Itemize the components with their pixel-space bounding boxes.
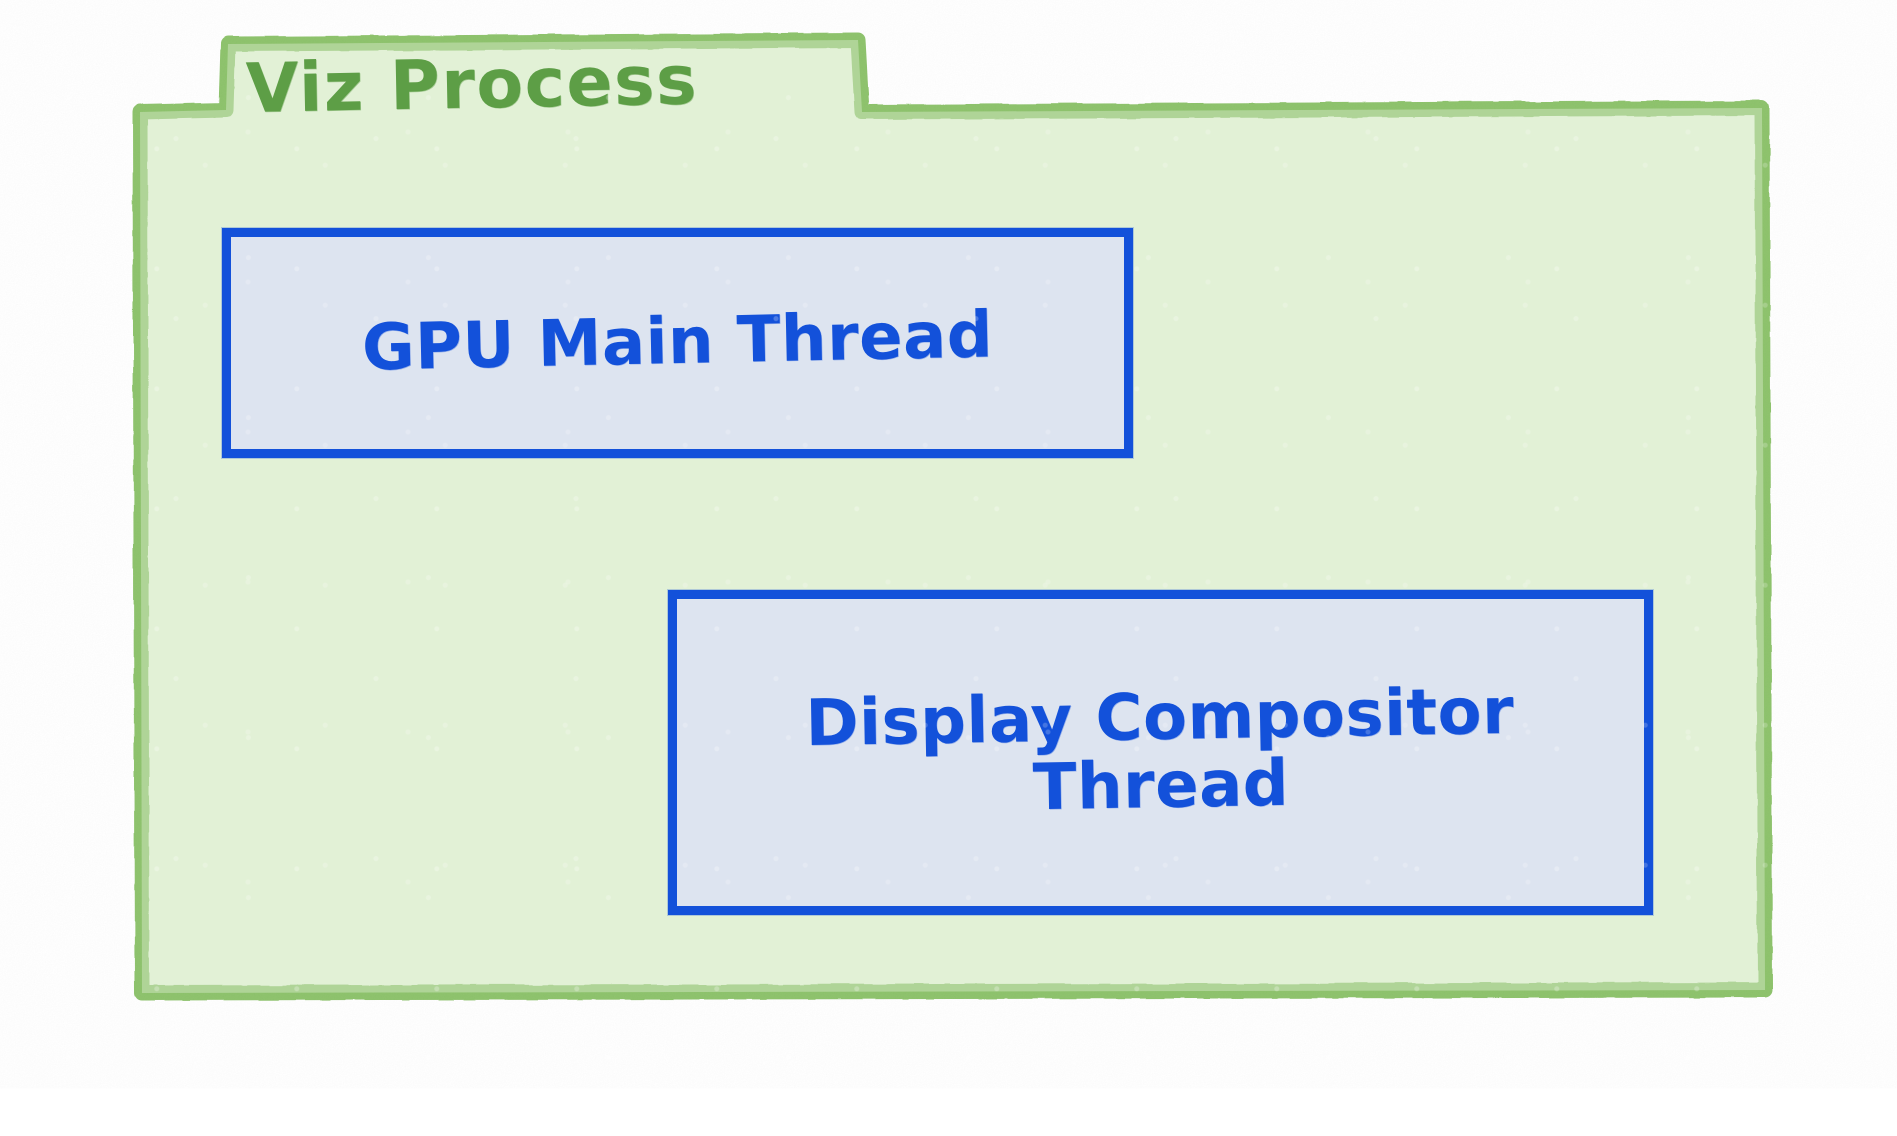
display-compositor-thread-box[interactable]: Display Compositor Thread — [668, 590, 1653, 915]
gpu-main-thread-box[interactable]: GPU Main Thread — [222, 228, 1133, 458]
paper-texture-overlay — [0, 0, 1897, 1136]
diagram-canvas: Viz Process GPU Main Thread Display Comp… — [0, 0, 1897, 1136]
gpu-main-thread-label: GPU Main Thread — [343, 302, 1011, 384]
display-compositor-thread-label: Display Compositor Thread — [787, 678, 1534, 827]
viz-process-container — [0, 0, 1897, 1136]
process-title: Viz Process — [245, 34, 867, 134]
